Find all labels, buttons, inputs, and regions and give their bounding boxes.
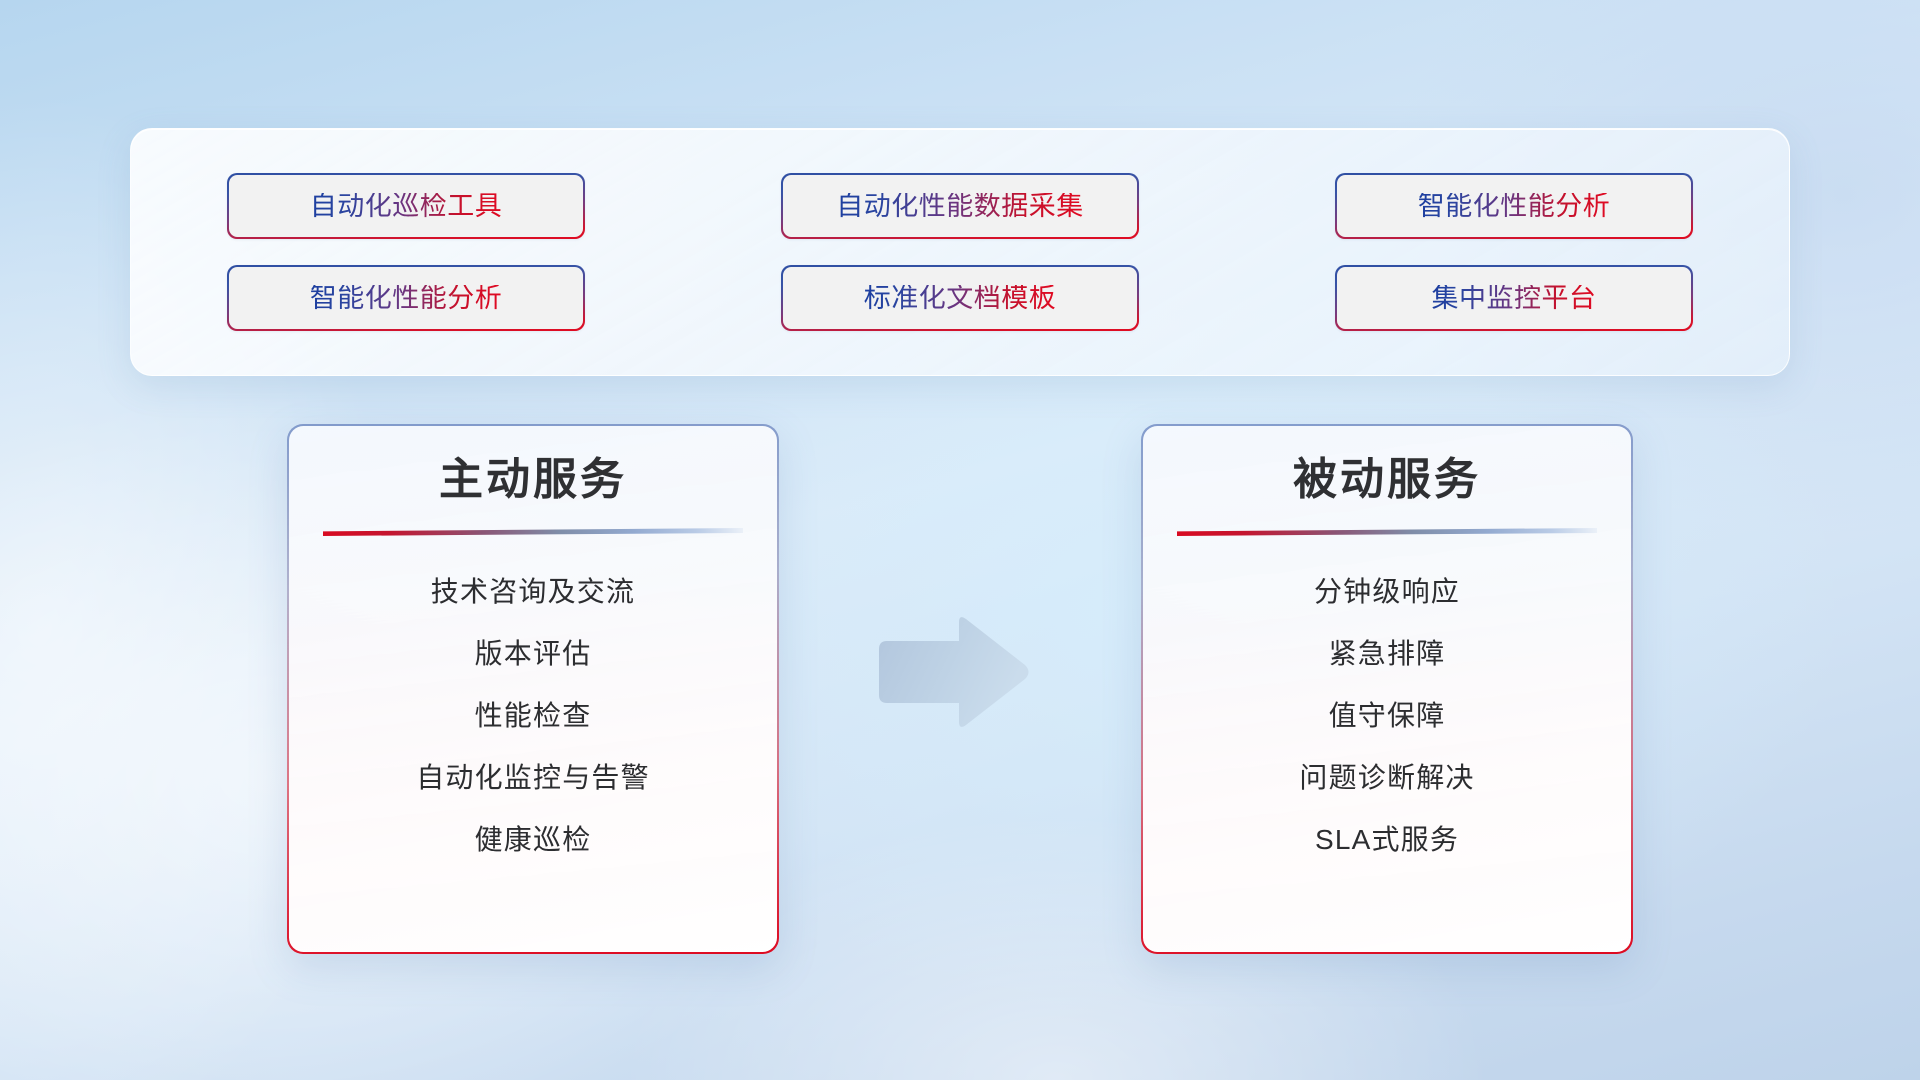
service-card-title: 被动服务 xyxy=(1293,456,1481,504)
gradient-divider-icon xyxy=(1177,528,1597,536)
slide-canvas: 自动化巡检工具 自动化性能数据采集 智能化性能分析 智能化性能分析 标准化文档模… xyxy=(0,0,1920,1080)
capability-panel: 自动化巡检工具 自动化性能数据采集 智能化性能分析 智能化性能分析 标准化文档模… xyxy=(130,128,1790,376)
list-item: 版本评估 xyxy=(475,640,592,668)
service-card-reactive[interactable]: 被动服务 分钟级响应 紧急排障 值守保障 问题诊断解决 SLA式服务 xyxy=(1141,424,1633,954)
service-item-list: 技术咨询及交流 版本评估 性能检查 自动化监控与告警 健康巡检 xyxy=(289,578,778,854)
list-item: 性能检查 xyxy=(475,702,592,730)
capability-pill-standardized-document-template[interactable]: 标准化文档模板 xyxy=(781,265,1139,331)
service-card-proactive[interactable]: 主动服务 技术咨询及交流 版本评估 性能检查 自动化监控与告警 健康巡检 xyxy=(287,424,779,954)
capability-pill-label: 智能化性能分析 xyxy=(1418,193,1611,220)
arrow-right-icon xyxy=(873,613,1033,731)
list-item: SLA式服务 xyxy=(1315,826,1459,854)
capability-row-2: 智能化性能分析 标准化文档模板 集中监控平台 xyxy=(227,265,1693,331)
capability-row-1: 自动化巡检工具 自动化性能数据采集 智能化性能分析 xyxy=(227,173,1693,239)
list-item: 自动化监控与告警 xyxy=(416,764,650,792)
list-item: 技术咨询及交流 xyxy=(431,578,635,606)
capability-pill-label: 智能化性能分析 xyxy=(310,285,503,312)
capability-pill-label: 标准化文档模板 xyxy=(864,285,1057,312)
capability-pill-intelligent-performance-analysis[interactable]: 智能化性能分析 xyxy=(1335,173,1693,239)
service-item-list: 分钟级响应 紧急排障 值守保障 问题诊断解决 SLA式服务 xyxy=(1143,578,1632,854)
service-card-title: 主动服务 xyxy=(439,456,627,504)
capability-pill-centralized-monitoring-platform[interactable]: 集中监控平台 xyxy=(1335,265,1693,331)
list-item: 值守保障 xyxy=(1329,702,1446,730)
capability-pill-label: 集中监控平台 xyxy=(1432,285,1597,312)
capability-pill-label: 自动化性能数据采集 xyxy=(836,193,1084,220)
service-card-body: 被动服务 分钟级响应 紧急排障 值守保障 问题诊断解决 SLA式服务 xyxy=(1143,426,1632,953)
gradient-divider-icon xyxy=(323,528,743,536)
list-item: 紧急排障 xyxy=(1329,640,1446,668)
list-item: 问题诊断解决 xyxy=(1299,764,1474,792)
capability-pill-automation-inspection-tool[interactable]: 自动化巡检工具 xyxy=(227,173,585,239)
title-divider-wrap xyxy=(1177,526,1597,538)
service-card-body: 主动服务 技术咨询及交流 版本评估 性能检查 自动化监控与告警 健康巡检 xyxy=(289,426,778,953)
list-item: 分钟级响应 xyxy=(1314,578,1460,606)
list-item: 健康巡检 xyxy=(475,826,592,854)
capability-pill-automation-performance-data-collection[interactable]: 自动化性能数据采集 xyxy=(781,173,1139,239)
title-divider-wrap xyxy=(323,526,743,538)
capability-pill-intelligent-performance-analysis-2[interactable]: 智能化性能分析 xyxy=(227,265,585,331)
capability-pill-label: 自动化巡检工具 xyxy=(310,193,503,220)
